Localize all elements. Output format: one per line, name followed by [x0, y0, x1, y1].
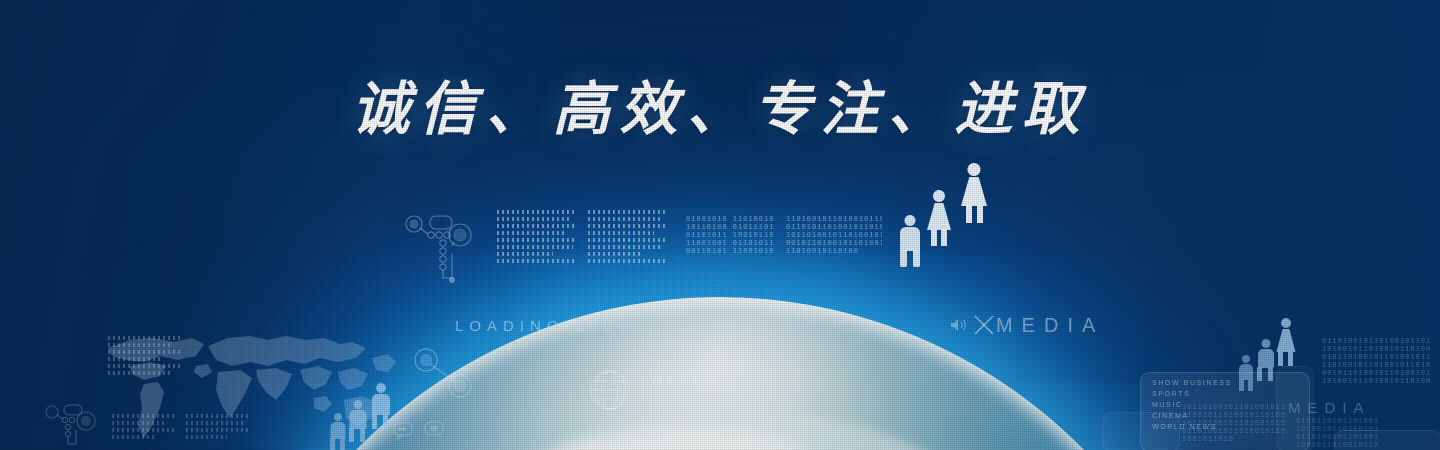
- network-nodes-pair: [408, 342, 488, 404]
- menu-item-world-news[interactable]: WORLD NEWS: [1152, 422, 1232, 433]
- loading-label: LOADING 100%: [455, 318, 637, 335]
- person-icon-male: [896, 215, 924, 267]
- network-nodes-cluster-top: [398, 202, 488, 294]
- hud-panel-right[interactable]: [1334, 430, 1440, 450]
- data-text-block: [186, 414, 248, 450]
- person-icon-female: [1273, 318, 1299, 366]
- media-label-right: MEDIA: [1288, 400, 1371, 417]
- menu-item-cinema[interactable]: CINEMA: [1152, 411, 1232, 422]
- heart-icon[interactable]: [423, 419, 445, 439]
- globe-wireframe-icon: [588, 368, 632, 412]
- menu-item-sports[interactable]: SPORTS: [1152, 389, 1232, 400]
- network-nodes-cluster-corner: [40, 398, 110, 450]
- sound-icon[interactable]: [950, 317, 967, 333]
- binary-stream: 01001010 11010010 01101 10110100 0101110…: [686, 216, 776, 256]
- menu-item-show-business[interactable]: SHOW BUSINESS: [1152, 378, 1232, 389]
- person-icon-male: [1236, 355, 1256, 391]
- person-icon-female: [958, 163, 990, 223]
- data-text-block: [112, 414, 174, 450]
- media-label: MEDIA: [996, 315, 1104, 338]
- person-icon-male: [368, 383, 394, 429]
- hero-banner: 01001010 11010010 01101 10110100 0101110…: [0, 0, 1440, 450]
- data-text-block: [588, 210, 666, 272]
- x-logo-icon: [972, 313, 996, 337]
- person-icon-male: [346, 400, 370, 442]
- world-label: WORLD: [650, 372, 718, 387]
- data-text-block: [108, 336, 180, 382]
- chat-bubble-icon[interactable]: [392, 420, 414, 440]
- page-title: 诚信、高效、专注、进取: [0, 62, 1440, 146]
- menu-item-music[interactable]: MUSIC: [1152, 400, 1232, 411]
- data-text-block: [497, 210, 575, 272]
- binary-stream: 011010010110100101101 101001011010010110…: [1322, 338, 1432, 386]
- person-icon-female: [924, 190, 954, 246]
- binary-stream: 1101001011010010110 0110101101001011010 …: [786, 216, 882, 256]
